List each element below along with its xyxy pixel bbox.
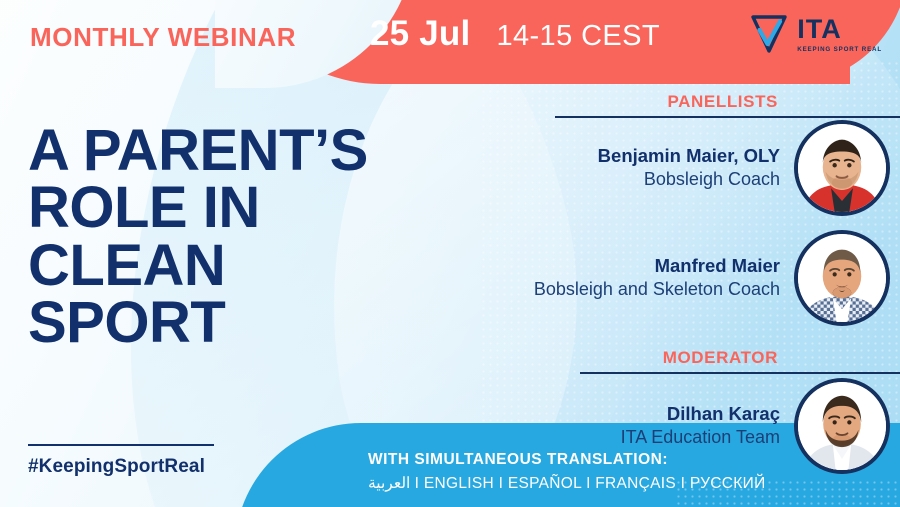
speaker-text-benjamin-maier: Benjamin Maier, OLY Bobsleigh Coach bbox=[598, 144, 780, 191]
date-time-group: 25 Jul 14-15 CEST bbox=[370, 14, 660, 54]
speaker-row-manfred-maier: Manfred Maier Bobsleigh and Skeleton Coa… bbox=[430, 230, 900, 326]
speaker-role: ITA Education Team bbox=[621, 426, 780, 449]
speaker-text-manfred-maier: Manfred Maier Bobsleigh and Skeleton Coa… bbox=[534, 254, 780, 301]
panellists-label: PANELLISTS bbox=[667, 92, 778, 112]
avatar-dilhan-karac bbox=[794, 378, 890, 474]
title-line-3: CLEAN bbox=[28, 237, 368, 294]
translation-languages: العربية I ENGLISH I ESPAÑOL I FRANÇAIS I… bbox=[368, 474, 766, 493]
moderator-label: MODERATOR bbox=[663, 348, 778, 368]
webinar-poster: MONTHLY WEBINAR 25 Jul 14-15 CEST ITA KE… bbox=[0, 0, 900, 507]
moderator-divider bbox=[580, 372, 900, 374]
page-title: A PARENT’S ROLE IN CLEAN SPORT bbox=[28, 122, 368, 352]
ita-tagline: KEEPING SPORT REAL bbox=[797, 46, 882, 53]
translation-title: WITH SIMULTANEOUS TRANSLATION: bbox=[368, 451, 766, 469]
speaker-role: Bobsleigh Coach bbox=[598, 168, 780, 191]
avatar-benjamin-maier bbox=[794, 120, 890, 216]
speaker-row-benjamin-maier: Benjamin Maier, OLY Bobsleigh Coach bbox=[430, 120, 900, 216]
speaker-text-dilhan-karac: Dilhan Karaç ITA Education Team bbox=[621, 402, 780, 449]
hashtag-text: #KeepingSportReal bbox=[28, 456, 214, 478]
webinar-time: 14-15 CEST bbox=[496, 20, 660, 53]
translation-text-group: WITH SIMULTANEOUS TRANSLATION: العربية I… bbox=[368, 451, 766, 493]
title-line-2: ROLE IN bbox=[28, 179, 368, 236]
title-line-4: SPORT bbox=[28, 294, 368, 351]
hashtag-block: #KeepingSportReal bbox=[28, 444, 214, 478]
speaker-name: Benjamin Maier, OLY bbox=[598, 144, 780, 168]
title-line-1: A PARENT’S bbox=[28, 122, 368, 179]
ita-logo: ITA KEEPING SPORT REAL bbox=[749, 13, 882, 55]
panellists-divider bbox=[555, 116, 900, 118]
ita-diamond-check-icon bbox=[749, 13, 789, 55]
panellists-heading: PANELLISTS bbox=[430, 92, 900, 118]
speakers-panel: PANELLISTS Benjamin Maier, OLY Bobsleigh… bbox=[430, 92, 900, 474]
speaker-name: Dilhan Karaç bbox=[621, 402, 780, 426]
moderator-heading: MODERATOR bbox=[430, 348, 900, 374]
monthly-webinar-kicker: MONTHLY WEBINAR bbox=[30, 22, 296, 53]
avatar-manfred-maier bbox=[794, 230, 890, 326]
ita-wordmark: ITA bbox=[797, 16, 842, 43]
speaker-role: Bobsleigh and Skeleton Coach bbox=[534, 278, 780, 301]
speaker-name: Manfred Maier bbox=[534, 254, 780, 278]
webinar-date: 25 Jul bbox=[370, 14, 470, 54]
ita-wordmark-group: ITA KEEPING SPORT REAL bbox=[797, 16, 882, 53]
hashtag-divider bbox=[28, 444, 214, 446]
